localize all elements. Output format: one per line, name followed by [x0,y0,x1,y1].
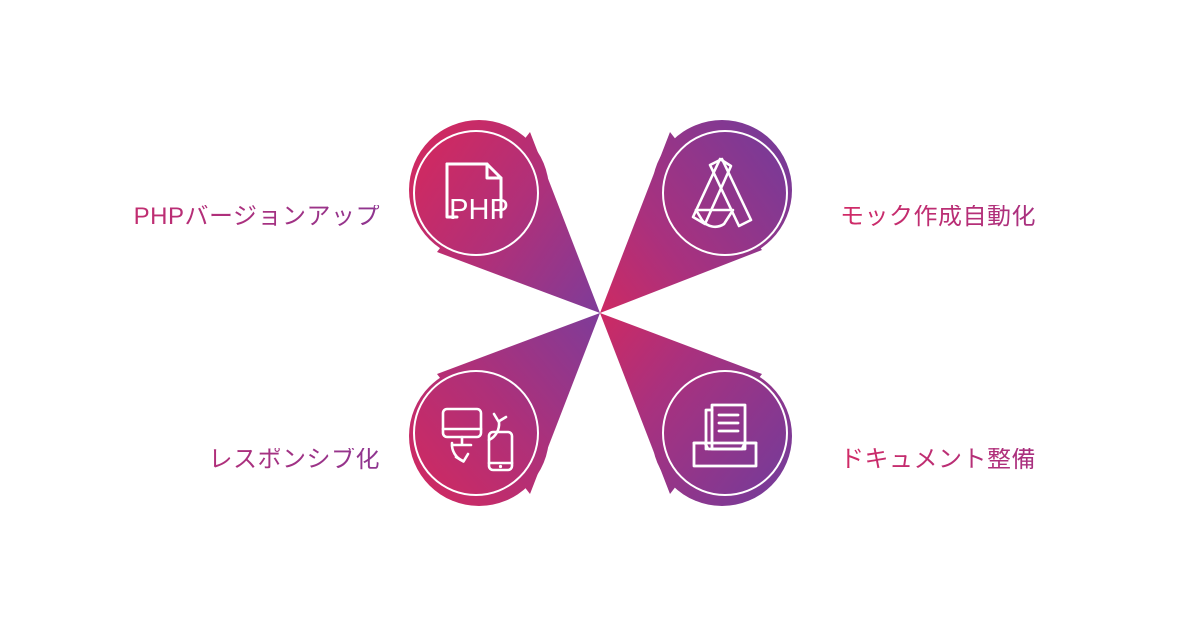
node-document[interactable] [600,313,792,506]
label-document: ドキュメント整備 [840,448,1160,472]
php-circle [409,120,549,260]
label-php: PHPバージョンアップ [60,205,380,229]
php-icon-label: PHP [449,194,509,226]
label-mock: モック作成自動化 [840,205,1160,229]
document-circle [652,366,792,506]
node-responsive[interactable] [409,313,600,506]
node-mock[interactable] [600,120,792,313]
node-php[interactable]: PHP [409,120,600,313]
label-responsive: レスポンシブ化 [60,448,380,472]
diagram-canvas: PHP [0,0,1200,630]
radial-diagram: PHP [0,0,1200,630]
